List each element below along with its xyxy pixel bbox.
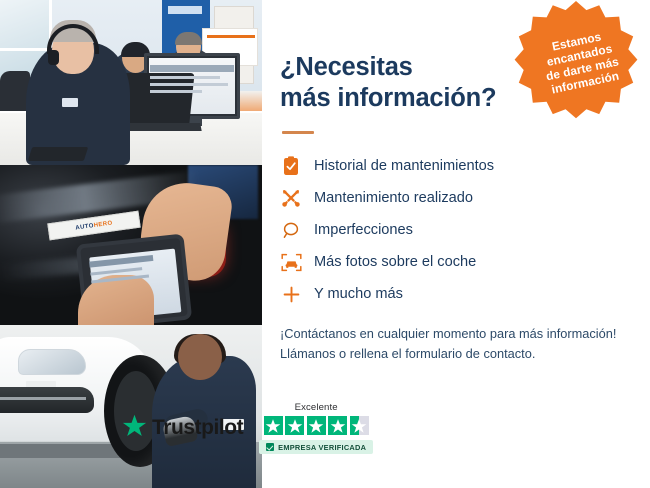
trustpilot-wordmark: Trustpilot [152,416,243,440]
page-title: ¿Necesitas más información? [280,52,520,114]
photo-car-inspection: AUTOHERO [0,165,262,325]
plus-icon [280,283,302,305]
trustpilot-rating[interactable]: Trustpilot Excelente [122,402,373,454]
list-item-label: Mantenimiento realizado [314,190,473,206]
ruler-brand-suffix: HERO [93,220,113,229]
car-focus-frame-icon [280,251,302,273]
contact-info-banner: AUTOHERO [0,0,650,488]
list-item: Historial de mantenimientos [280,150,622,182]
magnifier-icon [280,219,302,241]
car-lift-ramp [0,444,120,458]
photo-call-center [0,0,262,165]
contact-copy-line-2: Llámanos o rellena el formulario de cont… [280,344,622,364]
verified-company-badge: EMPRESA VERIFICADA [259,440,373,454]
feature-list: Historial de mantenimientos Mantenimient… [280,150,622,310]
list-item-label: Historial de mantenimientos [314,158,494,174]
contact-copy: ¡Contáctanos en cualquier momento para m… [280,324,622,364]
trustpilot-star-icon [122,414,147,443]
rating-label: Excelente [295,402,338,413]
list-item-label: Más fotos sobre el coche [314,254,476,270]
list-item: Mantenimiento realizado [280,182,622,214]
agent-name-badge [62,98,78,107]
star-full [328,416,347,435]
list-item-label: Y mucho más [314,286,403,302]
trustpilot-logo[interactable]: Trustpilot [122,414,243,443]
verified-company-label: EMPRESA VERIFICADA [278,443,366,452]
trustpilot-score: Excelente EMPRE [259,402,373,454]
badge-content: Estamos encantados de darte más informac… [510,0,642,130]
desk-tablet [28,147,89,161]
star-half [350,416,369,435]
headline-line-2: más información? [280,84,496,112]
tablet-screen-content [89,253,181,322]
badge-text: Estamos encantados de darte más informac… [539,27,623,98]
car-grille [0,387,94,413]
list-item: Y mucho más [280,278,622,310]
contact-copy-line-1: ¡Contáctanos en cualquier momento para m… [280,324,622,344]
car-headlight [18,349,86,375]
monitor-screen-content [150,65,236,107]
crossed-tools-icon [280,187,302,209]
person-background-hair [175,32,202,45]
headline-line-1: ¿Necesitas [280,53,413,81]
star-full [264,416,283,435]
list-item-label: Imperfecciones [314,222,413,238]
list-item: Imperfecciones [280,214,622,246]
verified-check-icon [266,443,274,451]
list-item: Más fotos sobre el coche [280,246,622,278]
star-full [307,416,326,435]
clipboard-check-icon [280,155,302,177]
title-divider [282,131,314,134]
star-rating [264,416,369,435]
star-full [285,416,304,435]
promo-starburst-badge: Estamos encantados de darte más informac… [510,0,642,130]
ruler-brand-prefix: AUTO [75,223,94,232]
mechanic-head [178,334,222,380]
